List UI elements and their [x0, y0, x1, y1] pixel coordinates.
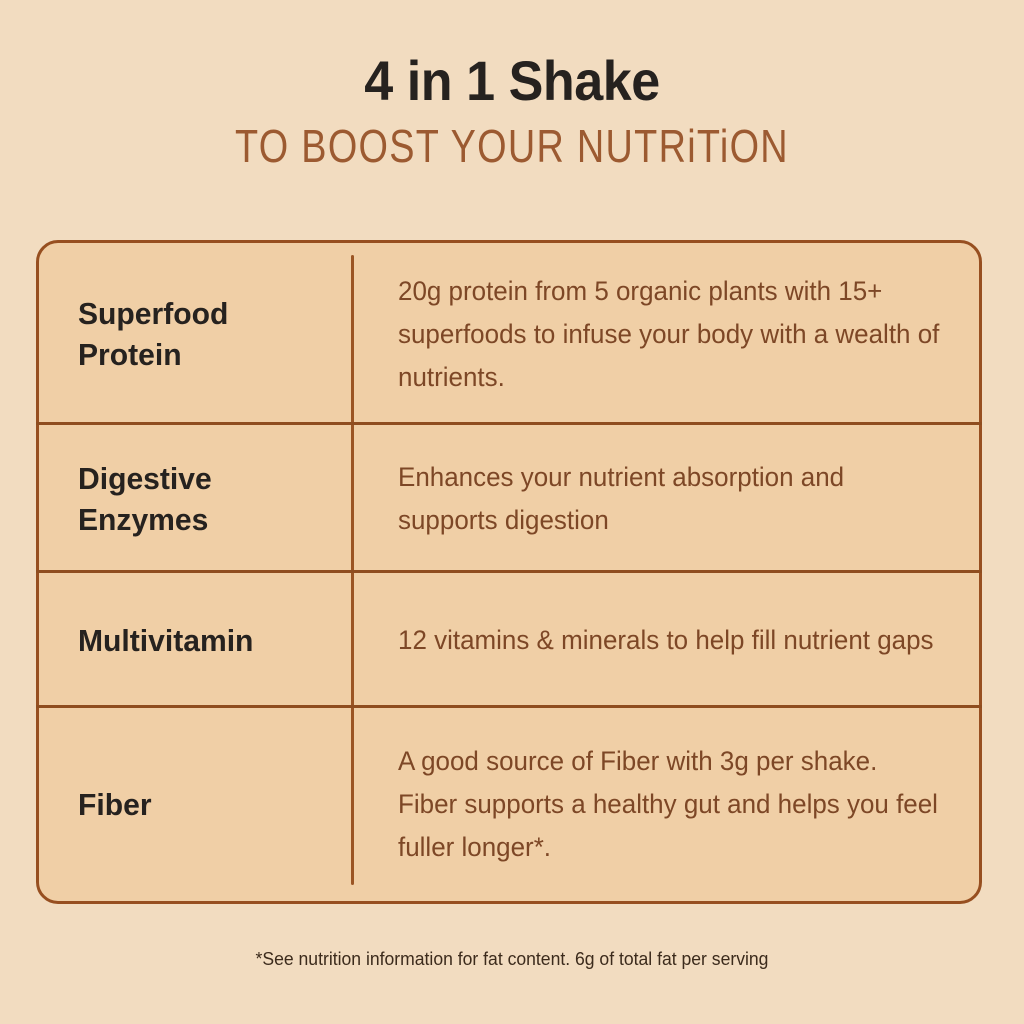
table-cell-description: Enhances your nutrient absorption and su…	[351, 425, 979, 573]
header: 4 in 1 Shake TO BOOST YOUR NUTRiTiON	[0, 52, 1024, 170]
benefit-label: Fiber	[78, 784, 152, 825]
table-cell-label: Superfood Protein	[39, 243, 351, 425]
benefit-description: A good source of Fiber with 3g per shake…	[398, 740, 942, 869]
table-row: Fiber A good source of Fiber with 3g per…	[39, 708, 979, 901]
table-cell-label: Digestive Enzymes	[39, 425, 351, 573]
table-cell-label: Multivitamin	[39, 573, 351, 708]
benefit-label: Multivitamin	[78, 620, 253, 661]
table-row: Digestive Enzymes Enhances your nutrient…	[39, 425, 979, 573]
poster-canvas: 4 in 1 Shake TO BOOST YOUR NUTRiTiON Sup…	[0, 0, 1024, 1024]
table-cell-description: 20g protein from 5 organic plants with 1…	[351, 243, 979, 425]
page-subtitle: TO BOOST YOUR NUTRiTiON	[72, 123, 953, 172]
table-cell-label: Fiber	[39, 708, 351, 901]
table-row: Superfood Protein 20g protein from 5 org…	[39, 243, 979, 425]
benefits-table: Superfood Protein 20g protein from 5 org…	[36, 240, 982, 904]
benefit-description: Enhances your nutrient absorption and su…	[398, 456, 942, 542]
benefit-description: 12 vitamins & minerals to help fill nutr…	[398, 619, 934, 662]
benefit-label: Digestive Enzymes	[78, 458, 212, 540]
benefit-label: Superfood Protein	[78, 293, 228, 375]
table-row: Multivitamin 12 vitamins & minerals to h…	[39, 573, 979, 708]
benefit-description: 20g protein from 5 organic plants with 1…	[398, 270, 942, 399]
page-title: 4 in 1 Shake	[36, 52, 988, 110]
table-cell-description: A good source of Fiber with 3g per shake…	[351, 708, 979, 901]
footnote: *See nutrition information for fat conte…	[26, 948, 999, 970]
table-cell-description: 12 vitamins & minerals to help fill nutr…	[351, 573, 979, 708]
